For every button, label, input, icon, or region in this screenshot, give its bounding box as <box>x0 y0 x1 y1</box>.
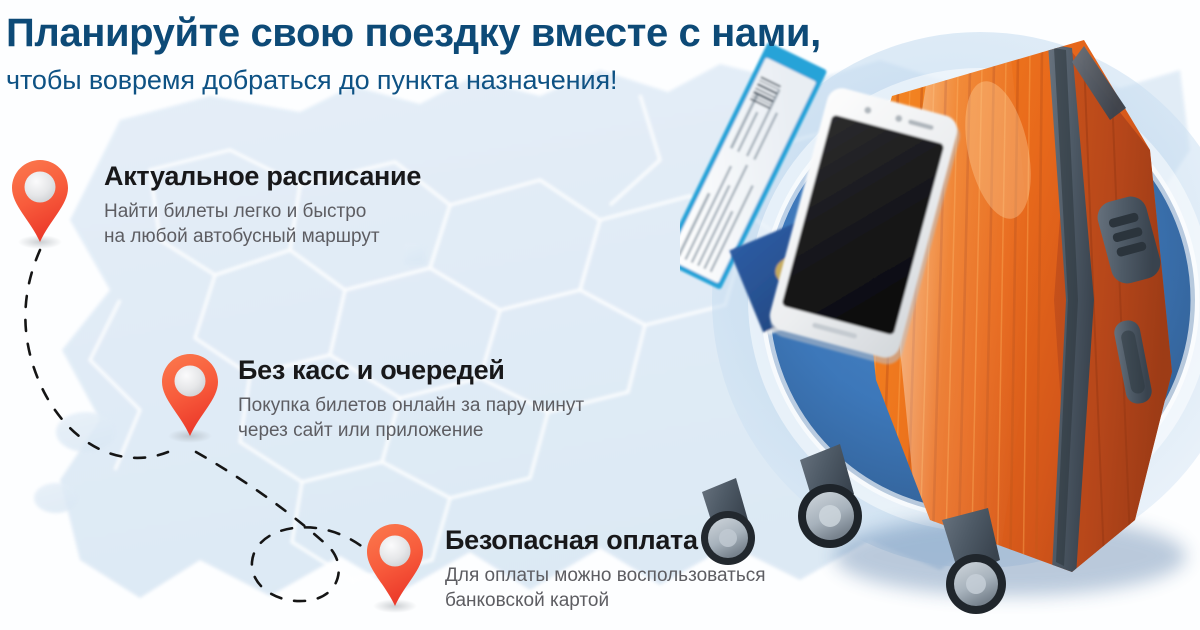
feature-bez-kass-i-ocheredey: Без касс и очередей Покупка билетов онла… <box>158 352 584 444</box>
feature-bezopasnaya-oplata: Безопасная оплата Для оплаты можно воспо… <box>363 522 766 614</box>
feature-description: Для оплаты можно воспользоваться банковс… <box>445 563 766 613</box>
feature-description-line: Найти билеты легко и быстро <box>104 199 421 224</box>
map-pin-icon <box>363 522 427 614</box>
feature-description-line: Для оплаты можно воспользоваться <box>445 563 766 588</box>
feature-aktualnoe-raspisanie: Актуальное расписание Найти билеты легко… <box>8 158 421 250</box>
feature-title: Безопасная оплата <box>445 526 766 556</box>
feature-title: Без касс и очередей <box>238 356 584 386</box>
feature-description-line: на любой автобусный маршрут <box>104 224 421 249</box>
feature-description-line: Покупка билетов онлайн за пару минут <box>238 393 584 418</box>
headline-block: Планируйте свою поездку вместе с нами, ч… <box>6 12 821 95</box>
feature-description-line: через сайт или приложение <box>238 418 584 443</box>
feature-description: Найти билеты легко и быстро на любой авт… <box>104 199 421 249</box>
travel-promo-banner: Планируйте свою поездку вместе с нами, ч… <box>0 0 1200 630</box>
feature-description: Покупка билетов онлайн за пару минут чер… <box>238 393 584 443</box>
page-title: Планируйте свою поездку вместе с нами, <box>6 12 821 55</box>
feature-description-line: банковской картой <box>445 588 766 613</box>
map-pin-icon <box>158 352 222 444</box>
map-pin-icon <box>8 158 72 250</box>
feature-title: Актуальное расписание <box>104 162 421 192</box>
page-subtitle: чтобы вовремя добраться до пункта назнач… <box>6 65 821 95</box>
